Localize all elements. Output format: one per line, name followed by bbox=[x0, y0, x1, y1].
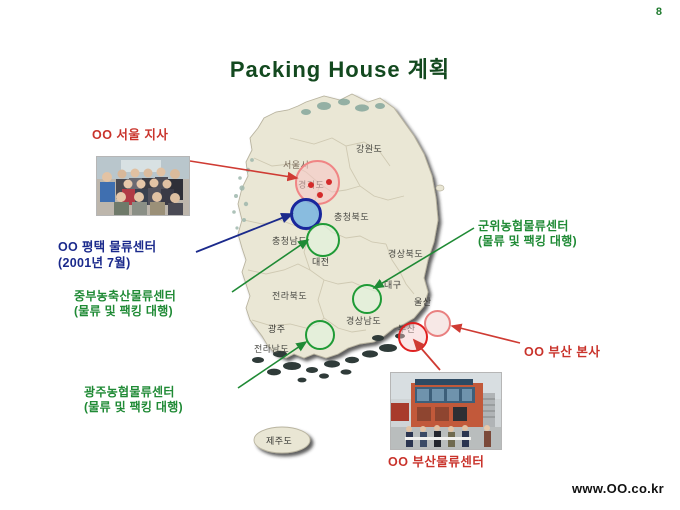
callout-seoul-branch-line-1: OO 서울 지사 bbox=[92, 128, 168, 144]
callout-gunwi-center-line-1: 군위농협물류센터 bbox=[478, 219, 577, 234]
photo-seoul-branch-staff-image bbox=[97, 157, 189, 215]
callout-jungbu-center-line-1: 중부농축산물류센터 bbox=[74, 289, 176, 304]
callout-busan-center: OO 부산물류센터 bbox=[388, 455, 484, 471]
callout-jungbu-center: 중부농축산물류센터 (물류 및 팩킹 대행) bbox=[74, 289, 176, 319]
callout-gwangju-center-line-1: 광주농협물류센터 bbox=[84, 385, 183, 400]
callout-gwangju-center-line-2: (물류 및 팩킹 대행) bbox=[84, 400, 183, 415]
marker-gwangju[interactable] bbox=[305, 320, 335, 350]
callout-gunwi-center: 군위농협물류센터 (물류 및 팩킹 대행) bbox=[478, 219, 577, 249]
marker-jungbu-daejeon[interactable] bbox=[306, 223, 340, 257]
callout-pyeongtaek-center-line-2: (2001년 7월) bbox=[58, 256, 156, 272]
callout-busan-hq-line-1: OO 부산 본사 bbox=[524, 345, 600, 361]
map-label-gyeongnam: 경상남도 bbox=[346, 314, 381, 327]
marker-busan-center[interactable] bbox=[424, 310, 451, 337]
callout-jungbu-center-line-2: (물류 및 팩킹 대행) bbox=[74, 304, 176, 319]
map-label-daegu: 대구 bbox=[384, 278, 402, 291]
map-label-chungnam: 충청남도 bbox=[272, 234, 307, 247]
map-label-gangwon: 강원도 bbox=[356, 142, 382, 155]
marker-dot-3 bbox=[317, 192, 323, 198]
page-number: 8 bbox=[656, 6, 662, 18]
map-label-jeonbuk: 전라북도 bbox=[272, 289, 307, 302]
map-label-chungbuk: 충청북도 bbox=[334, 210, 369, 223]
map-label-ulsan: 울산 bbox=[414, 295, 432, 308]
photo-seoul-branch-staff[interactable] bbox=[96, 156, 190, 216]
callout-busan-center-line-1: OO 부산물류센터 bbox=[388, 455, 484, 471]
map-label-gyeongbuk: 경상북도 bbox=[388, 247, 423, 260]
map-label-jeju: 제주도 bbox=[266, 434, 292, 447]
slide-canvas: 8 Packing House 계획 bbox=[0, 0, 680, 510]
callout-gunwi-center-line-2: (물류 및 팩킹 대행) bbox=[478, 234, 577, 249]
photo-busan-logistics-building-image bbox=[391, 373, 501, 449]
page-title: Packing House 계획 bbox=[0, 52, 680, 84]
callout-busan-hq: OO 부산 본사 bbox=[524, 345, 600, 361]
callout-pyeongtaek-center-line-1: OO 평택 물류센터 bbox=[58, 240, 156, 256]
map-label-gwangju: 광주 bbox=[268, 322, 286, 335]
footer-url: www.OO.co.kr bbox=[572, 481, 664, 496]
callout-gwangju-center: 광주농협물류센터 (물류 및 팩킹 대행) bbox=[84, 385, 183, 415]
marker-dot-1 bbox=[308, 182, 314, 188]
callout-seoul-branch: OO 서울 지사 bbox=[92, 128, 168, 144]
map-label-jeonnam: 전라남도 bbox=[254, 342, 289, 355]
photo-busan-logistics-building[interactable] bbox=[390, 372, 502, 450]
callout-pyeongtaek-center: OO 평택 물류센터 (2001년 7월) bbox=[58, 240, 156, 271]
marker-dot-2 bbox=[326, 179, 332, 185]
marker-gunwi[interactable] bbox=[352, 284, 382, 314]
